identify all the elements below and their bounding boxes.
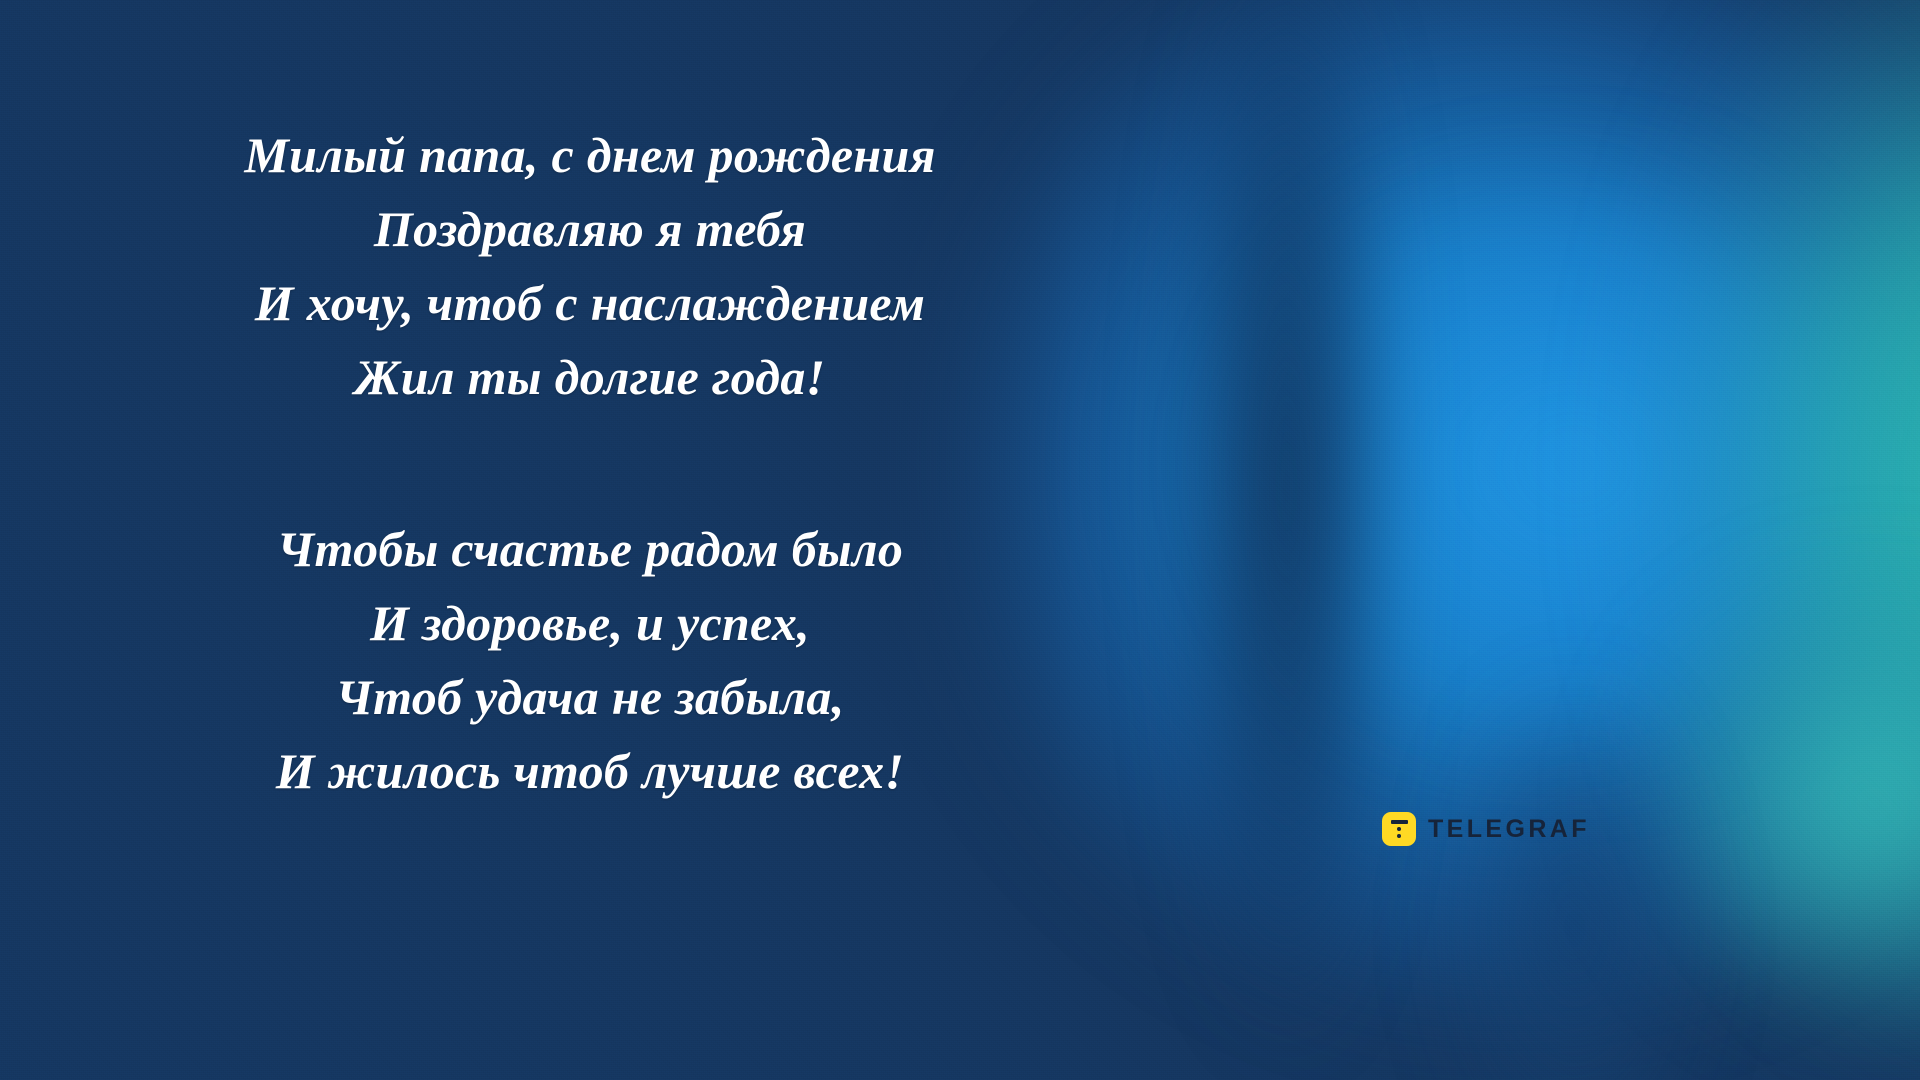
poem-line: Милый папа, с днем рождения (0, 118, 1180, 192)
poem-block: Милый папа, с днем рождения Поздравляю я… (0, 118, 1180, 808)
poem-stanza: Милый папа, с днем рождения Поздравляю я… (0, 118, 1180, 414)
telegraf-mark-dot-upper (1397, 827, 1401, 831)
telegraf-brand-label: TELEGRAF (1428, 817, 1590, 842)
telegraf-watermark: TELEGRAF (1382, 812, 1590, 846)
poem-line: Чтобы счастье радом было (0, 512, 1180, 586)
background-dark-swirl-lower (1421, 626, 1805, 1080)
poem-line: Поздравляю я тебя (0, 192, 1180, 266)
poem-line: И хочу, чтоб с наслаждением (0, 266, 1180, 340)
poem-stanza: Чтобы счастье радом было И здоровье, и у… (0, 512, 1180, 808)
poem-line: И здоровье, и успех, (0, 586, 1180, 660)
telegraf-mark-bar (1391, 820, 1408, 824)
poem-line: Жил ты долгие года! (0, 340, 1180, 414)
telegraf-mark-dot-lower (1397, 834, 1401, 838)
poem-line: И жилось чтоб лучше всех! (0, 734, 1180, 808)
poem-line: Чтоб удача не забыла, (0, 660, 1180, 734)
telegraf-mark-icon (1382, 812, 1416, 846)
greeting-card-canvas: Милый папа, с днем рождения Поздравляю я… (0, 0, 1920, 1080)
